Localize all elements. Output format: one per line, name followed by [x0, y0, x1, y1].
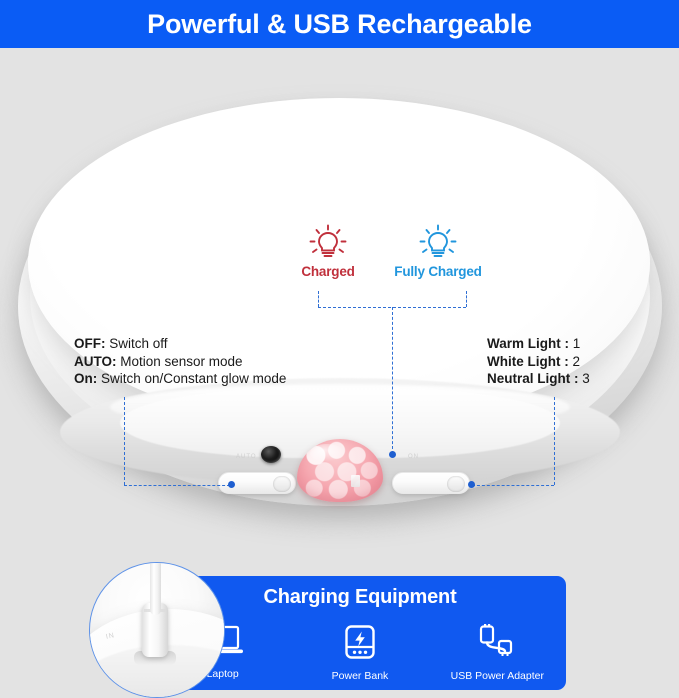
switch-mode-on: On: Switch on/Constant glow mode: [74, 370, 286, 388]
light-mode-white-label: White Light :: [487, 354, 569, 369]
charging-port-closeup: IN: [89, 562, 225, 698]
light-mode-warm-value: 1: [569, 336, 580, 351]
closeup-usb-cable: [150, 562, 161, 615]
status-charged-label: Charged: [280, 264, 376, 279]
charging-item-power-bank: Power Bank: [296, 624, 424, 682]
switch-knob: [447, 476, 465, 492]
callout-line-switch-horz: [124, 485, 230, 486]
switch-mode-off-description: Switch off: [106, 336, 168, 351]
switch-mode-auto-description: Motion sensor mode: [117, 354, 243, 369]
page-title: Powerful & USB Rechargeable: [147, 9, 532, 40]
callout-line-charged: [318, 291, 319, 307]
light-mode-neutral-value: 3: [579, 371, 590, 386]
light-mode-warm: Warm Light : 1: [487, 335, 590, 353]
slider-switch-right[interactable]: [392, 472, 470, 494]
light-mode-warm-label: Warm Light :: [487, 336, 569, 351]
switch-knob: [273, 476, 291, 492]
light-modes-block: Warm Light : 1 White Light : 2 Neutral L…: [487, 335, 590, 388]
power-bank-icon: [343, 624, 377, 660]
pir-chip: [351, 475, 360, 487]
status-fully-charged-label: Fully Charged: [376, 264, 500, 279]
bulb-icon: [418, 224, 458, 262]
header-banner: Powerful & USB Rechargeable: [0, 0, 679, 48]
switch-mode-off-label: OFF:: [74, 336, 106, 351]
callout-dot-right-switch: [468, 481, 475, 488]
charging-item-power-bank-label: Power Bank: [296, 670, 424, 682]
engraving-right: ON: [408, 454, 419, 460]
light-mode-white-value: 2: [569, 354, 580, 369]
light-mode-white: White Light : 2: [487, 353, 590, 371]
charging-item-usb-adapter: USB Power Adapter: [433, 624, 561, 682]
engraving-left: AUTO: [236, 454, 257, 460]
product-stage: AUTO ON Charged: [0, 48, 679, 679]
bulb-icon: [308, 224, 348, 262]
light-mode-neutral: Neutral Light : 3: [487, 370, 590, 388]
switch-mode-off: OFF: Switch off: [74, 335, 286, 353]
callout-line-light-horz: [472, 485, 554, 486]
switch-mode-auto: AUTO: Motion sensor mode: [74, 353, 286, 371]
usb-cable-icon: [475, 624, 519, 660]
status-indicator-group: Charged Fully Charged: [280, 224, 500, 294]
switch-mode-on-label: On:: [74, 371, 97, 386]
switch-modes-block: OFF: Switch off AUTO: Motion sensor mode…: [74, 335, 286, 388]
callout-dot-left-switch: [228, 481, 235, 488]
status-charged: Charged: [280, 224, 376, 279]
light-mode-neutral-label: Neutral Light :: [487, 371, 579, 386]
switch-mode-on-description: Switch on/Constant glow mode: [97, 371, 286, 386]
callout-line-status-drop: [392, 307, 393, 454]
callout-line-fully-charged: [466, 291, 467, 307]
switch-mode-auto-label: AUTO:: [74, 354, 117, 369]
callout-dot-led: [389, 451, 396, 458]
callout-line-light-vert: [554, 397, 555, 485]
charging-item-usb-adapter-label: USB Power Adapter: [433, 670, 561, 682]
led-indicator: [261, 446, 281, 463]
pir-dome-highlight: [310, 444, 344, 462]
status-fully-charged: Fully Charged: [376, 224, 500, 279]
callout-line-switch-vert: [124, 397, 125, 485]
